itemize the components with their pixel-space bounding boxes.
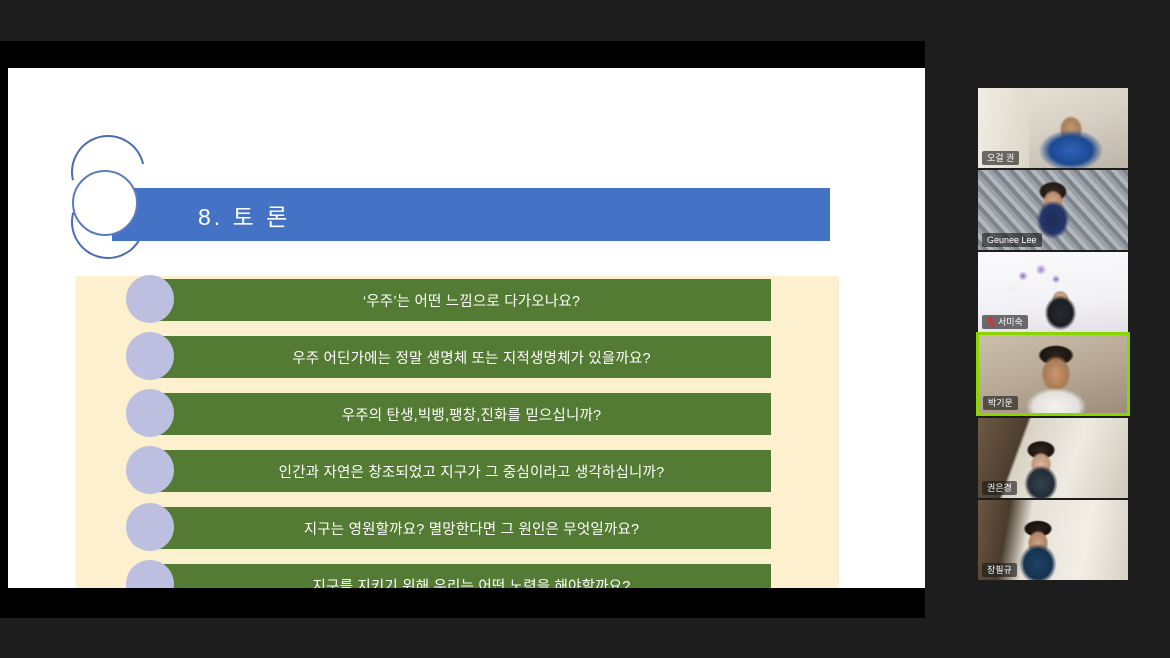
question-bar: ‘우주’는 어떤 느낌으로 다가오나요? (154, 279, 771, 321)
question-text: 우주 어딘가에는 정말 생명체 또는 지적생명체가 있을까요? (274, 347, 651, 368)
participant-name-plate: 박기운 (983, 396, 1018, 410)
participant-name: Geunee Lee (987, 235, 1037, 245)
participant-filmstrip[interactable]: 오걸 권 Geunee Lee 서미숙 (978, 88, 1130, 584)
question-row: 지구를 지키기 위해 우리는 어떤 노력을 해야할까요? (126, 564, 771, 588)
question-row: 인간과 자연은 창조되었고 지구가 그 중심이라고 생각하십니까? (126, 450, 771, 492)
bullet-circle-icon (126, 275, 174, 323)
shared-screen-stage: 8. 토 론 ‘우주’는 어떤 느낌으로 다가오나요? 우주 어딘가에는 정말 … (0, 41, 925, 618)
participant-name: 서미숙 (998, 317, 1023, 327)
question-bar: 지구는 영원할까요? 멸망한다면 그 원인은 무엇일까요? (154, 507, 771, 549)
presentation-slide: 8. 토 론 ‘우주’는 어떤 느낌으로 다가오나요? 우주 어딘가에는 정말 … (8, 68, 925, 588)
question-row: ‘우주’는 어떤 느낌으로 다가오나요? (126, 279, 771, 321)
participant-tile[interactable]: Geunee Lee (978, 170, 1128, 250)
question-row: 우주의 탄생,빅뱅,팽창,진화를 믿으십니까? (126, 393, 771, 435)
bullet-circle-icon (126, 446, 174, 494)
question-text: 우주의 탄생,빅뱅,팽창,진화를 믿으십니까? (324, 404, 602, 425)
question-bar: 우주의 탄생,빅뱅,팽창,진화를 믿으십니까? (154, 393, 771, 435)
question-bar: 인간과 자연은 창조되었고 지구가 그 중심이라고 생각하십니까? (154, 450, 771, 492)
question-row: 우주 어딘가에는 정말 생명체 또는 지적생명체가 있을까요? (126, 336, 771, 378)
participant-name: 오걸 권 (987, 153, 1014, 163)
slide-title: 8. 토 론 (198, 198, 290, 232)
participant-tile[interactable]: 장필규 (978, 500, 1128, 580)
slide-title-bar: 8. 토 론 (112, 188, 830, 241)
participant-name-plate: Geunee Lee (982, 233, 1042, 247)
question-bar: 지구를 지키기 위해 우리는 어떤 노력을 해야할까요? (154, 564, 771, 588)
question-text: 인간과 자연은 창조되었고 지구가 그 중심이라고 생각하십니까? (261, 461, 665, 482)
circle-outline-icon (72, 170, 138, 236)
bullet-circle-icon (126, 503, 174, 551)
participant-name-plate: 서미숙 (982, 315, 1028, 329)
participant-tile[interactable]: 권은경 (978, 418, 1128, 498)
mic-muted-icon (987, 317, 995, 327)
participant-name: 권은경 (987, 483, 1012, 493)
participant-name-plate: 장필규 (982, 563, 1017, 577)
participant-name-plate: 권은경 (982, 481, 1017, 495)
question-text: 지구를 지키기 위해 우리는 어떤 노력을 해야할까요? (295, 575, 631, 589)
question-row: 지구는 영원할까요? 멸망한다면 그 원인은 무엇일까요? (126, 507, 771, 549)
participant-tile[interactable]: 서미숙 (978, 252, 1128, 332)
bullet-circle-icon (126, 332, 174, 380)
participant-tile-active-speaker[interactable]: 박기운 (976, 332, 1130, 416)
bullet-circle-icon (126, 389, 174, 437)
question-text: ‘우주’는 어떤 느낌으로 다가오나요? (345, 290, 580, 311)
question-text: 지구는 영원할까요? 멸망한다면 그 원인은 무엇일까요? (286, 518, 640, 539)
participant-name-plate: 오걸 권 (982, 151, 1019, 165)
participant-name: 장필규 (987, 565, 1012, 575)
meeting-window: 8. 토 론 ‘우주’는 어떤 느낌으로 다가오나요? 우주 어딘가에는 정말 … (0, 0, 1170, 658)
question-bar: 우주 어딘가에는 정말 생명체 또는 지적생명체가 있을까요? (154, 336, 771, 378)
participant-tile[interactable]: 오걸 권 (978, 88, 1128, 168)
participant-name: 박기운 (988, 398, 1013, 408)
